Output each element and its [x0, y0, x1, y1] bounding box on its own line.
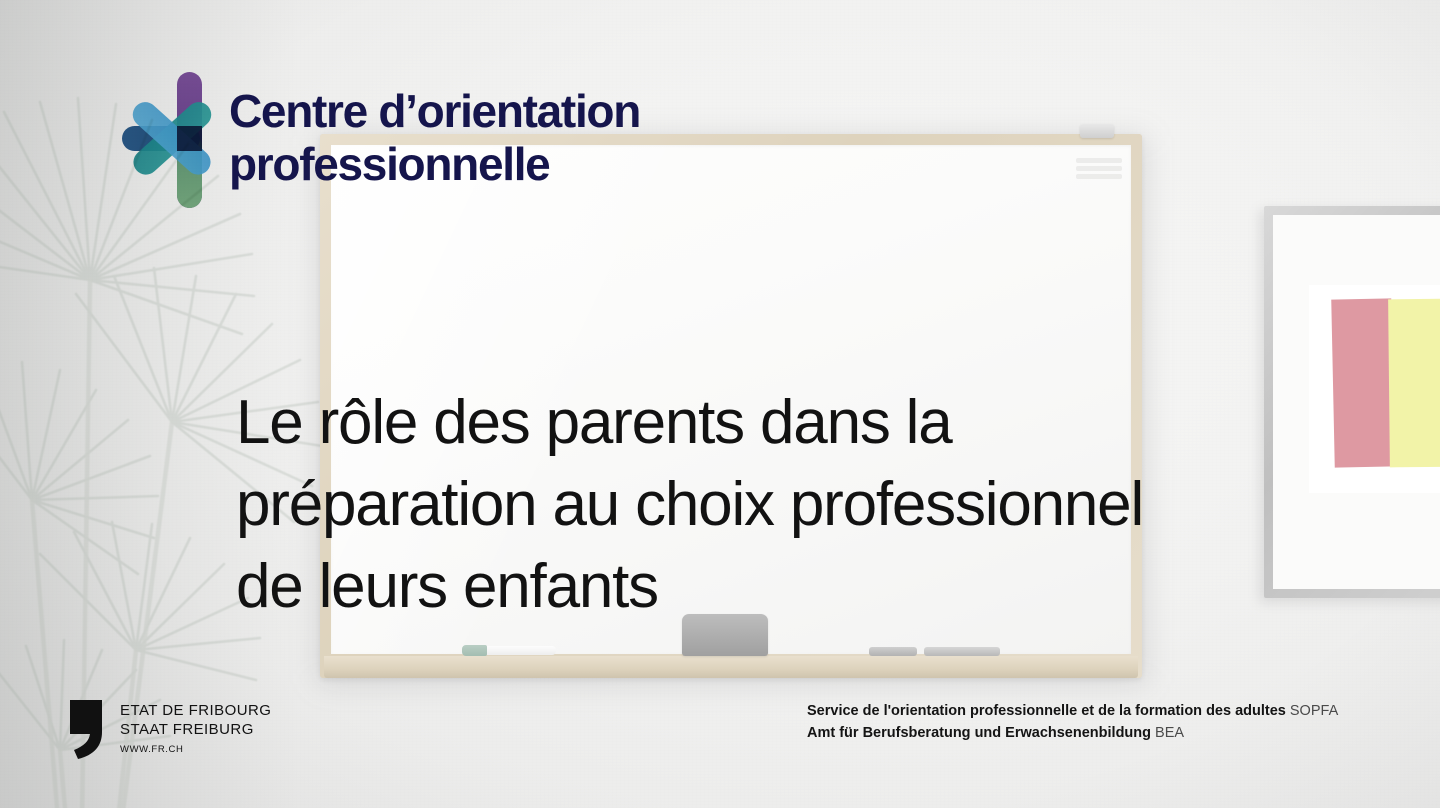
- department-line-de: Amt für Berufsberatung und Erwachsenenbi…: [807, 722, 1338, 744]
- brand-wordmark-line1: Centre d’orientation: [229, 85, 640, 138]
- whiteboard-marker-grey-1: [869, 647, 917, 656]
- fribourg-logo-text: ETAT DE FRIBOURG STAAT FREIBURG WWW.FR.C…: [120, 701, 271, 755]
- department-de-abbr: BEA: [1155, 725, 1184, 741]
- picture-artwork: [1309, 285, 1440, 493]
- brand-wordmark: Centre d’orientation professionnelle: [229, 85, 640, 191]
- fribourg-comma-svg: [68, 698, 106, 760]
- page-title: Le rôle des parents dans la préparation …: [236, 382, 1216, 628]
- department-fr-abbr: SOPFA: [1290, 703, 1338, 719]
- artwork-bar-yellow: [1388, 299, 1440, 468]
- cop-logo-svg: [118, 68, 222, 212]
- fribourg-state-logo: ETAT DE FRIBOURG STAAT FREIBURG WWW.FR.C…: [68, 698, 338, 766]
- department-block: Service de l'orientation professionnelle…: [807, 700, 1338, 744]
- whiteboard-tray: [324, 656, 1138, 678]
- artwork-bar-red: [1331, 298, 1395, 467]
- page-title-line2: préparation au choix professionnel: [236, 464, 1216, 546]
- fribourg-url: WWW.FR.CH: [120, 744, 271, 755]
- department-de-text: Amt für Berufsberatung und Erwachsenenbi…: [807, 725, 1151, 741]
- page-title-line3: de leurs enfants: [236, 546, 1216, 628]
- framed-picture: [1264, 206, 1440, 598]
- fribourg-comma-icon: [68, 698, 106, 760]
- page-title-line1: Le rôle des parents dans la: [236, 382, 1216, 464]
- whiteboard-marker-green-cap: [462, 645, 487, 656]
- cop-asterisk-logo-icon: [118, 68, 222, 212]
- picture-mat: [1273, 215, 1440, 589]
- department-line-fr: Service de l'orientation professionnelle…: [807, 700, 1338, 722]
- brand-wordmark-line2: professionnelle: [229, 138, 640, 191]
- presentation-slide: Centre d’orientation professionnelle Le …: [0, 0, 1440, 808]
- department-fr-text: Service de l'orientation professionnelle…: [807, 703, 1286, 719]
- whiteboard-clip-reflection: [1076, 158, 1122, 188]
- whiteboard-mount-clip: [1080, 124, 1114, 138]
- fribourg-line-de: STAAT FREIBURG: [120, 720, 271, 739]
- fribourg-line-fr: ETAT DE FRIBOURG: [120, 701, 271, 720]
- whiteboard-marker-grey-2: [924, 647, 1000, 656]
